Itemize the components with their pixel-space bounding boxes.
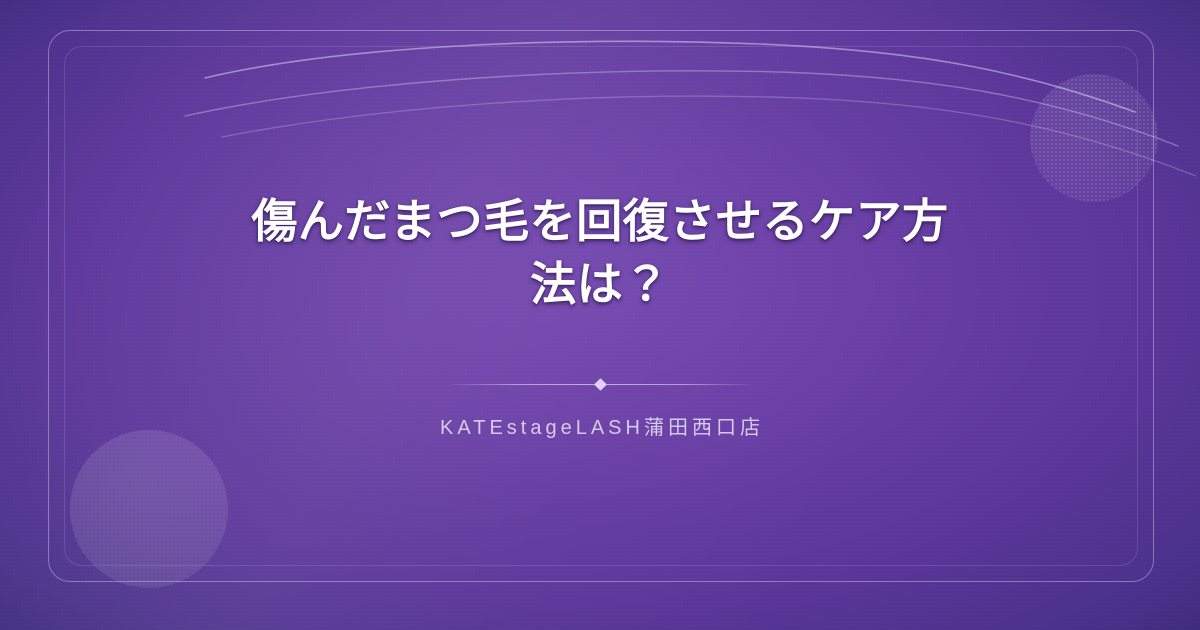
divider-ornament	[450, 377, 750, 391]
card-content: 傷んだまつ毛を回復させるケア方法は？ KATEstageLASH蒲田西口店	[0, 0, 1200, 630]
diamond-icon	[594, 378, 607, 391]
og-image-card: 傷んだまつ毛を回復させるケア方法は？ KATEstageLASH蒲田西口店	[0, 0, 1200, 630]
page-title: 傷んだまつ毛を回復させるケア方法は？	[235, 190, 965, 315]
site-name: KATEstageLASH蒲田西口店	[436, 411, 764, 440]
